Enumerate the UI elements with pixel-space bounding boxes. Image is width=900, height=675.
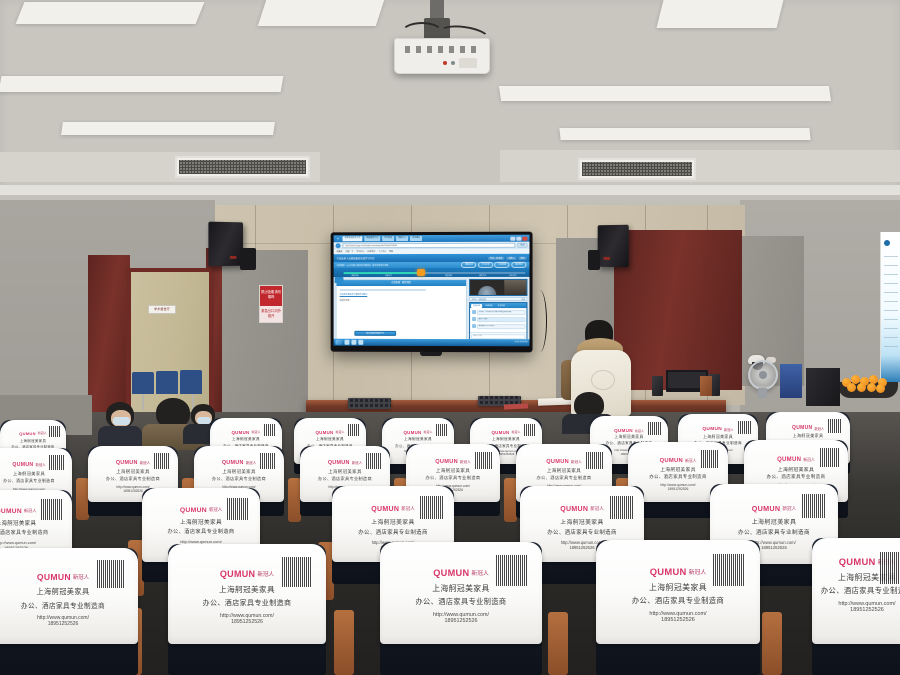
ceiling-light-strip-1 (16, 2, 205, 24)
brand-logo-cn: 新冠人 (401, 506, 415, 512)
chair-line1: 上海舸冠美家具 (660, 467, 696, 473)
chair-hotline: 18951252526 (498, 453, 514, 456)
brand-logo: QUMUN (328, 460, 350, 466)
qr-code-icon (227, 498, 249, 520)
brand-logo-cn: 新冠人 (257, 570, 274, 578)
brand-logo-cn: 新冠人 (424, 430, 433, 434)
back-icon[interactable]: ← (336, 243, 341, 248)
brand-logo: QUMUN (702, 427, 722, 432)
brand-logo-cn: 新冠人 (571, 460, 582, 465)
brand-logo: QUMUN (792, 425, 812, 431)
chair-line1: 上海舸冠美家具 (778, 466, 814, 473)
qr-code-icon (524, 424, 536, 436)
browser-logo-icon: e (336, 236, 341, 241)
chair-line1: 上海舸冠美家具 (752, 517, 797, 526)
brand-logo: QUMUN (546, 459, 569, 465)
wall-display[interactable]: e 全国专业技术人员 继续教育平台 学时查询 课程中心 考试报名 ← http:… (331, 232, 533, 353)
jacket-emblem (591, 370, 615, 390)
qr-code-icon (586, 452, 603, 469)
seat: QUMUN 新冠人 上海舸冠美家具 办公、酒店家具专业制造商 http://ww… (812, 538, 900, 675)
chat-messages[interactable]: 大家好，今天我们学习数字化转型相关内容。 收到，老师！ 请问课件可以下载吗？ (470, 308, 526, 332)
desktop-speaker-left (652, 376, 663, 396)
bookmark-2[interactable]: 学习中心 (356, 250, 364, 253)
qr-code-icon (264, 424, 276, 436)
chair-hotline: 18951252526 (48, 621, 79, 627)
ceiling-light-strip-7 (559, 128, 810, 140)
chair-line2: 办公、酒店家具专业制造商 (212, 476, 266, 482)
qr-code-icon (610, 496, 633, 519)
poster-logo-icon (884, 240, 890, 246)
brand-logo-cn: 新冠人 (782, 506, 796, 512)
chair-hotline: 18951252526 (761, 545, 787, 550)
ceiling-light-strip-2 (258, 0, 384, 26)
orange-fruit (847, 383, 856, 392)
chat-message-text: 大家好，今天我们学习数字化转型相关内容。 (477, 310, 525, 315)
qr-code-icon (366, 453, 382, 469)
brand-logo: QUMUN (222, 460, 244, 466)
projector-power-led (443, 61, 447, 65)
chair-line1: 上海舸冠美家具 (793, 433, 824, 439)
qr-code-icon (420, 496, 443, 519)
seat: QUMUN 新冠人 上海舸冠美家具 办公、酒店家具专业制造商 http://ww… (168, 544, 326, 675)
course-progress-bar[interactable]: 课前准备 视频学习 随堂测验 课后作业 结业考试 (334, 268, 530, 277)
brand-logo-cn: 新冠人 (73, 573, 89, 581)
notice-sign-top-text: 禁止吸烟 请勿喧哗 (260, 286, 282, 306)
wall-speaker-right (598, 225, 629, 268)
chat-message-text: 请问课件可以下载吗？ (477, 324, 525, 330)
brand-logo-cn: 新冠人 (140, 461, 151, 466)
brand-logo-cn: 新冠人 (689, 567, 707, 576)
chat-tab-qa[interactable]: 在线答疑 (483, 304, 494, 308)
browser-tab-2[interactable]: 学时查询 (382, 236, 394, 241)
ceiling-light-strip-3 (657, 0, 784, 28)
brand-logo: QUMUN (19, 431, 36, 436)
video-feed-person (478, 286, 496, 296)
orange-fruit (876, 384, 885, 393)
chair-cover: QUMUN 新冠人 上海舸冠美家具 办公、酒店家具专业制造商 http://ww… (812, 538, 900, 644)
progress-step-4: 结业考试 (509, 274, 516, 277)
chair-line2: 办公、酒店家具专业制造商 (425, 475, 480, 481)
bookmark-4[interactable]: 个人中心 (378, 250, 386, 253)
close-icon[interactable] (522, 236, 527, 240)
video-caption: 主讲人 · 视频直播 (472, 298, 486, 301)
speaker-bracket-left (240, 248, 256, 270)
chair-hotline: 18951252526 (569, 545, 594, 550)
display-screen[interactable]: e 全国专业技术人员 继续教育平台 学时查询 课程中心 考试报名 ← http:… (334, 235, 530, 347)
qr-code-icon (41, 499, 62, 520)
page-content: 在线答题 · 随堂测验 点击此处查看本节课程学习要点 请选择答案： 提交答案并继… (334, 277, 530, 343)
brand-logo: QUMUN (180, 507, 207, 514)
brand-logo: QUMUN (403, 430, 421, 435)
seat: QUMUN 新冠人 上海舸冠美家具 办公、酒店家具专业制造商 http://ww… (0, 548, 138, 675)
qr-code-icon (648, 422, 661, 435)
brand-logo-cn: 新冠人 (590, 506, 604, 512)
torso (98, 426, 142, 446)
progress-step-0: 课前准备 (351, 274, 358, 277)
chair-line2: 办公、酒店家具专业制造商 (767, 474, 826, 480)
brand-logo-cn: 新冠人 (471, 568, 488, 577)
avatar (472, 317, 476, 321)
chair-line1: 上海舸冠美家具 (180, 518, 222, 526)
chat-message: 收到，老师！ (472, 317, 525, 323)
brand-logo: QUMUN (660, 458, 683, 464)
chair-line2: 办公、酒店家具专业制造商 (821, 586, 900, 596)
qr-code-icon (701, 450, 719, 468)
qr-code-icon (475, 452, 492, 469)
progress-step-1: 视频学习 (385, 274, 392, 277)
quiz-prompt: 请选择答案： (340, 298, 463, 301)
chair-cover: QUMUN 新冠人 上海舸冠美家具 办公、酒店家具专业制造商 http://ww… (380, 542, 542, 644)
qr-code-icon (348, 424, 360, 436)
submit-answer-button[interactable]: 提交答案并继续学习 (354, 331, 396, 336)
chair-line1: 上海舸冠美家具 (328, 469, 362, 475)
avatar (472, 324, 476, 328)
brand-logo: QUMUN (231, 430, 249, 435)
brand-logo-cn: 新冠人 (336, 430, 345, 434)
qr-code-icon (282, 557, 312, 587)
brand-logo: QUMUN (433, 568, 469, 578)
ceiling-light-strip-5 (61, 122, 275, 135)
media-icon[interactable] (358, 340, 363, 345)
brand-logo-cn: 新冠人 (724, 427, 734, 432)
chair-cover: QUMUN 新冠人 上海舸冠美家具 办公、酒店家具专业制造商 http://ww… (0, 548, 138, 644)
chair-line2: 办公、酒店家具专业制造商 (649, 474, 707, 480)
orange-fruit (857, 383, 866, 392)
hvac-vent-left (175, 156, 310, 178)
wall-speaker-left (208, 222, 243, 267)
projector (394, 38, 490, 74)
progress-step-3: 课后作业 (479, 274, 486, 277)
windows-taskbar[interactable]: 14:26 2023/11/8 (334, 339, 530, 347)
chair-line1: 上海舸冠美家具 (371, 517, 414, 526)
browser-tab-3[interactable]: 课程中心 (396, 236, 408, 241)
brand-logo: QUMUN (220, 569, 256, 579)
chair-line1: 上海舸冠美家具 (219, 584, 275, 595)
chair-line1: 上海舸冠美家具 (404, 437, 432, 442)
video-feed[interactable] (469, 279, 527, 296)
progress-knob[interactable] (417, 269, 425, 276)
chair-line1: 上海舸冠美家具 (222, 469, 256, 475)
blue-storage-panel (780, 364, 802, 398)
brand-logo-cn: 新冠人 (685, 459, 696, 464)
browser-icon[interactable] (344, 340, 349, 345)
chair-line2: 办公、酒店家具专业制造商 (106, 476, 160, 482)
brand-logo: QUMUN (37, 572, 71, 582)
brand-logo-cn: 新冠人 (24, 508, 37, 514)
qr-code-icon (49, 455, 64, 470)
chat-message-text: 收到，老师！ (477, 317, 525, 323)
conference-room-photo: 学术报告厅 禁止吸烟 请勿喧哗 紧急出口 向外推开 e 全国专业技术人员 (0, 0, 900, 675)
brand-logo: QUMUN (839, 556, 876, 567)
speaker-bracket-right (588, 250, 600, 270)
chair-line1: 上海舸冠美家具 (560, 517, 603, 526)
hvac-vent-right (578, 158, 696, 180)
chair-hotline: 18951252526 (661, 617, 695, 623)
folder-icon[interactable] (351, 340, 356, 345)
chat-tab-discussion[interactable]: 互动讨论 (471, 304, 482, 308)
seat: QUMUN 新冠人 上海舸冠美家具 办公、酒店家具专业制造商 http://ww… (596, 540, 760, 675)
brand-logo-cn: 新冠人 (635, 429, 644, 433)
brand-logo-cn: 新冠人 (38, 431, 47, 435)
wall-poster (880, 232, 900, 382)
quiz-help-link[interactable]: 点击此处查看本节课程学习要点 (340, 292, 463, 295)
taskbar-clock[interactable]: 14:26 2023/11/8 (514, 342, 527, 344)
seat: QUMUN 新冠人 上海舸冠美家具 办公、酒店家具专业制造商 http://ww… (380, 542, 542, 675)
desk-control-panel-left[interactable] (348, 398, 391, 409)
chair-line1: 上海舸冠美家具 (116, 469, 150, 475)
qr-code-icon (260, 453, 276, 469)
qr-code-icon (436, 424, 448, 436)
poster-text-lines (884, 256, 898, 351)
chair-line1: 上海舸冠美家具 (614, 435, 643, 440)
face-mask (113, 417, 130, 425)
waiting-chair-1 (132, 372, 154, 394)
qr-code-icon (802, 494, 826, 518)
qr-code-icon (880, 552, 900, 584)
grey-column-left (222, 250, 308, 412)
brand-logo-cn: 新冠人 (803, 457, 815, 463)
maximize-icon[interactable] (516, 236, 521, 240)
waiting-chair-2 (156, 371, 178, 394)
browser-tab-1[interactable]: 继续教育平台 (364, 236, 380, 241)
qr-code-icon (49, 426, 60, 437)
seat-armrest (762, 612, 782, 675)
orange-fruit (867, 383, 876, 392)
chair-hotline: 18951252526 (850, 607, 884, 613)
minimize-icon[interactable] (510, 236, 515, 240)
chair-line1: 上海舸冠美家具 (316, 437, 344, 442)
window-controls (510, 236, 527, 240)
chair-line1: 上海舸冠美家具 (232, 437, 260, 442)
seat-armrest (334, 610, 354, 675)
bookmark-1[interactable]: 百度一下 (345, 250, 353, 253)
equipment-cabinet (806, 368, 840, 406)
chair-line1: 上海舸冠美家具 (13, 471, 45, 477)
qr-code-icon (820, 448, 839, 467)
browser-tab-0[interactable]: 全国专业技术人员 (343, 236, 363, 241)
bookmark-0[interactable]: 收藏夹 (337, 250, 343, 253)
quiz-panel: 在线答题 · 随堂测验 点击此处查看本节课程学习要点 请选择答案： 提交答案并继… (336, 279, 467, 341)
projector-status-led (451, 61, 455, 65)
chair-line1: 上海舸冠美家具 (703, 434, 733, 440)
chair-line2: 办公、酒店家具专业制造商 (21, 600, 105, 610)
chair-line2: 办公、酒店家具专业制造商 (318, 476, 372, 482)
brand-logo: QUMUN (0, 508, 22, 515)
wall-notice-sign: 禁止吸烟 请勿喧哗 紧急出口 向外推开 (259, 285, 283, 323)
qr-code-icon (738, 421, 751, 434)
address-bar[interactable]: http://www.zjzxjy.com/study/course/play.… (343, 243, 516, 248)
door-sign: 学术报告厅 (148, 305, 176, 314)
fullscreen-icon[interactable]: 全屏 (521, 298, 525, 301)
brand-logo: QUMUN (752, 504, 781, 513)
brand-logo-cn: 新冠人 (209, 507, 222, 513)
user-chip[interactable]: 学员：张 登录 (488, 256, 505, 259)
brand-logo-cn: 新冠人 (246, 461, 257, 466)
brand-logo: QUMUN (560, 506, 588, 513)
chair-hotline: 18951252526 (231, 619, 263, 625)
browser-tab-4[interactable]: 考试报名 (410, 236, 422, 241)
messages-chip[interactable]: 消息 3 (507, 256, 517, 259)
brand-logo: QUMUN (371, 506, 399, 513)
seat-armrest (548, 612, 568, 675)
brand-logo: QUMUN (315, 430, 333, 435)
chair-line1: 上海舸冠美家具 (492, 437, 520, 442)
brand-logo: QUMUN (435, 459, 458, 465)
chair-line2: 办公、酒店家具专业制造商 (167, 528, 234, 535)
chair-line2: 办公、酒店家具专业制造商 (203, 598, 292, 608)
brand-logo-cn: 新冠人 (460, 460, 471, 465)
chair-line2: 办公、酒店家具专业制造商 (547, 528, 617, 536)
chair-line2: 办公、酒店家具专业制造商 (415, 597, 506, 607)
fan-hub (759, 371, 767, 379)
brand-logo-cn: 新冠人 (252, 430, 261, 434)
logout-chip[interactable]: 退出 (518, 256, 526, 259)
chair-line2: 办公、酒店家具专业制造商 (738, 528, 810, 536)
chair-line1: 上海舸冠美家具 (20, 438, 47, 443)
avatar (472, 310, 476, 314)
chair-line1: 上海舸冠美家具 (547, 468, 581, 474)
chair-line1: 上海舸冠美家具 (432, 583, 489, 594)
brand-logo-cn: 新冠人 (35, 462, 45, 467)
right-sidebar: 主讲人 · 视频直播 全屏 互动讨论 在线答疑 学员名单 大家好，今天我 (469, 279, 527, 341)
progress-step-2: 随堂测验 (445, 274, 452, 277)
chair-line1: 上海舸冠美家具 (436, 468, 470, 474)
chair-line1: 上海舸冠美家具 (36, 587, 89, 597)
bookmark-3[interactable]: 在线考试 (367, 250, 375, 253)
brand-logo: QUMUN (116, 460, 138, 466)
wood-box (700, 376, 712, 396)
bookmark-5[interactable]: 帮助 (389, 250, 393, 253)
chat-panel: 互动讨论 在线答疑 学员名单 大家好，今天我们学习数字化转型相关内容。 (469, 302, 527, 341)
qr-code-icon (496, 555, 527, 586)
chat-message: 大家好，今天我们学习数字化转型相关内容。 (472, 310, 525, 315)
chair-hotline: 18951252526 (668, 487, 689, 491)
ceiling-light-strip-6 (499, 86, 831, 101)
ceiling-light-strip-4 (0, 76, 283, 92)
face-mask (197, 417, 211, 424)
brand-logo: QUMUN (12, 462, 33, 468)
brand-logo-cn: 新冠人 (352, 461, 363, 466)
brand-logo: QUMUN (777, 457, 801, 463)
quiz-panel-body: 点击此处查看本节课程学习要点 请选择答案： 提交答案并继续学习 (337, 286, 466, 340)
chair-hotline: 18951252526 (123, 489, 143, 493)
chair-cover: QUMUN 新冠人 上海舸冠美家具 办公、酒店家具专业制造商 http://ww… (596, 540, 760, 644)
chair-cover: QUMUN 新冠人 上海舸冠美家具 办公、酒店家具专业制造商 http://ww… (168, 544, 326, 644)
brand-logo: QUMUN (491, 430, 509, 435)
ceiling-soffit-right (500, 150, 900, 182)
course-title: 当前课程：2023年度公需科目专题培训 - 数字化转型与创新 (337, 264, 389, 267)
chair-line1: 上海舸冠美家具 (0, 519, 36, 527)
collapse-sidebar-icon[interactable] (335, 277, 344, 283)
qr-code-icon (97, 560, 125, 588)
brand-logo: QUMUN (650, 566, 687, 577)
chair-hotline: 18951252526 (445, 618, 478, 624)
site-title: 专业技术人员继续教育在线学习平台 (337, 256, 375, 260)
start-button-icon[interactable] (336, 340, 343, 345)
chair-line2: 办公、酒店家具专业制造商 (3, 478, 55, 484)
brand-logo-cn: 新冠人 (512, 430, 521, 434)
brand-logo: QUMUN (614, 428, 633, 433)
video-controls[interactable]: 主讲人 · 视频直播 全屏 (469, 297, 527, 301)
go-button[interactable]: 转到 (517, 243, 527, 248)
brand-logo-cn: 新冠人 (814, 426, 824, 431)
display-wall-mount (420, 352, 442, 356)
chair-line1: 上海舸冠美家具 (649, 582, 707, 593)
waiting-chair-3 (180, 370, 202, 394)
video-feed-background (504, 280, 526, 295)
fan-stand (758, 388, 767, 398)
chair-line2: 办公、酒店家具专业制造商 (358, 528, 428, 536)
chair-line2: 办公、酒店家具专业制造商 (632, 596, 724, 606)
attendee-person (96, 402, 144, 444)
chair-line2: 办公、酒店家具专业制造商 (0, 529, 48, 536)
notice-sign-bottom-text: 紧急出口 向外推开 (260, 306, 282, 322)
wood-column-left (88, 255, 130, 420)
qr-code-icon (713, 554, 745, 586)
tv-power-cable (533, 290, 547, 352)
chat-tab-roster[interactable]: 学员名单 (496, 304, 507, 308)
chat-message: 请问课件可以下载吗？ (472, 324, 525, 330)
qr-code-icon (154, 453, 170, 469)
qr-code-icon (828, 419, 842, 433)
chair-line2: 办公、酒店家具专业制造商 (536, 475, 591, 481)
